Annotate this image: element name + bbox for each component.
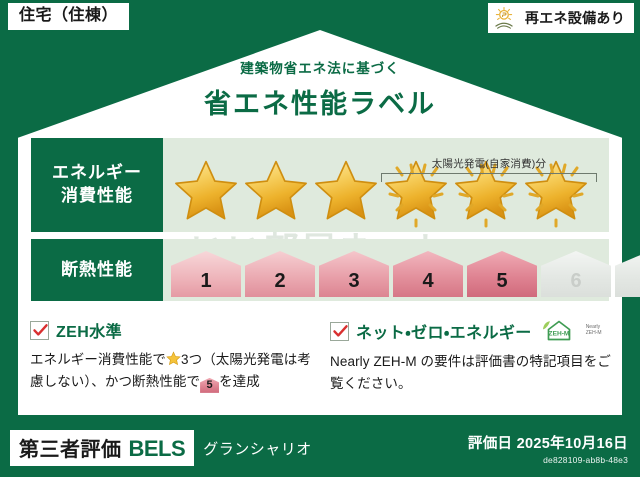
zeh-standard-body: エネルギー消費性能で3つ（太陽光発電は考慮しない）、かつ断熱性能で5を達成 [30, 349, 312, 393]
star-icon [241, 152, 311, 230]
insulation-grade-6: 6 [541, 251, 611, 297]
insulation-grade-5: 5 [467, 251, 537, 297]
solar-sun-icon [494, 6, 520, 30]
solar-bracket-label: 太陽光発電(自家消費)分 [381, 156, 597, 171]
building-type-badge: 住宅（住棟） [8, 3, 129, 30]
net-zero-header: ネット・ゼロ・エネルギー ZEH-M Nearly ZEH-M [330, 318, 612, 344]
criteria-panels: ZEH水準 エネルギー消費性能で3つ（太陽光発電は考慮しない）、かつ断熱性能で5… [30, 318, 612, 395]
insulation-grade-1: 1 [171, 251, 241, 297]
label-main-title: 省エネ性能ラベル [0, 82, 640, 121]
evaluation-date-value: 2025年10月16日 [517, 436, 628, 452]
svg-text:ZEH-M: ZEH-M [548, 331, 569, 338]
net-zero-checkbox [330, 322, 349, 341]
evaluation-info: 評価日 2025年10月16日 de828109-ab8b-48e3 [468, 432, 628, 465]
zeh-m-logo-icon: ZEH-M [539, 318, 579, 344]
performance-rows: エネルギー 消費性能 太陽光発電(自家消費)分 断熱性能 1234567 [31, 138, 609, 308]
renewable-equipment-label: 再エネ設備あり [525, 8, 625, 28]
building-name: グランシャリオ [203, 438, 312, 459]
net-zero-energy-panel: ネット・ゼロ・エネルギー ZEH-M Nearly ZEH-M Nearly Z… [330, 318, 612, 395]
energy-label-line1: エネルギー [52, 162, 142, 185]
insulation-grade-7: 7 [615, 251, 640, 297]
insulation-grade-2: 2 [245, 251, 315, 297]
star-shape [173, 159, 239, 223]
insulation-performance-row: 断熱性能 1234567 [31, 239, 609, 301]
zeh-standard-title: ZEH水準 [56, 318, 122, 342]
evaluation-id: de828109-ab8b-48e3 [468, 455, 628, 465]
energy-performance-row: エネルギー 消費性能 太陽光発電(自家消費)分 [31, 138, 609, 232]
bels-badge: 第三者評価 BELS [10, 430, 194, 466]
building-type-label: 住宅（住棟） [19, 7, 118, 24]
insulation-grade-4: 4 [393, 251, 463, 297]
solar-generation-bracket: 太陽光発電(自家消費)分 [381, 156, 597, 182]
star-icon [311, 152, 381, 230]
insulation-label-text: 断熱性能 [61, 259, 133, 282]
zeh-m-caption-line2: ZEH-M [586, 330, 602, 336]
inline-grade-chip: 5 [200, 378, 219, 393]
zeh-standard-header: ZEH水準 [30, 318, 312, 342]
star-icon [171, 152, 241, 230]
check-icon [332, 323, 349, 340]
star-shape [313, 159, 379, 223]
bels-jp-label: 第三者評価 [19, 433, 122, 462]
insulation-grade-3: 3 [319, 251, 389, 297]
zeh-checkbox [30, 321, 49, 340]
energy-rating-content: 太陽光発電(自家消費)分 [163, 138, 609, 232]
star-shape [243, 159, 309, 223]
zeh-body-part1: エネルギー消費性能で [30, 352, 166, 367]
zeh-body-part3: を達成 [219, 374, 260, 389]
label-subtitle: 建築物省エネ法に基づく [0, 57, 640, 77]
label-title-block: 建築物省エネ法に基づく 省エネ性能ラベル [0, 57, 640, 121]
net-zero-title: ネット・ゼロ・エネルギー [356, 319, 532, 343]
solar-bracket-line [381, 173, 597, 182]
insulation-rating-content: 1234567 [163, 239, 609, 301]
energy-performance-label: エネルギー 消費性能 [31, 138, 163, 232]
inline-star-icon [166, 351, 181, 366]
check-icon [32, 322, 49, 339]
renewable-equipment-badge: 再エネ設備あり [488, 3, 634, 33]
evaluation-date: 評価日 2025年10月16日 [468, 432, 628, 453]
evaluation-date-label: 評価日 [468, 436, 512, 452]
footer-bar: 第三者評価 BELS グランシャリオ 評価日 2025年10月16日 de828… [0, 419, 640, 477]
energy-label-line2: 消費性能 [61, 185, 133, 208]
insulation-grade-scale: 1234567 [171, 251, 640, 297]
energy-performance-label: 住宅（住棟） 再エネ設備あり 建築物省エネ法に基づく 省エネ性能ラベル いい部屋… [0, 0, 640, 477]
zeh-m-logo-caption: Nearly ZEH-M [586, 325, 602, 337]
net-zero-body: Nearly ZEH-M の要件は評価書の特記項目をご覧ください。 [330, 351, 612, 395]
zeh-standard-panel: ZEH水準 エネルギー消費性能で3つ（太陽光発電は考慮しない）、かつ断熱性能で5… [30, 318, 312, 395]
bels-en-label: BELS [129, 436, 186, 462]
insulation-performance-label: 断熱性能 [31, 239, 163, 301]
